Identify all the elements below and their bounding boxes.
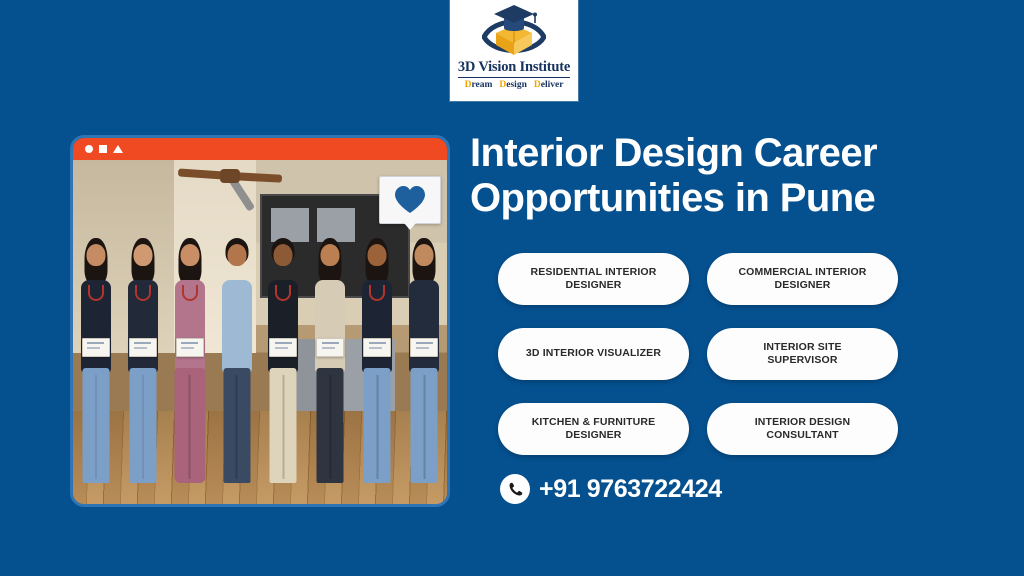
photo-people-row <box>73 222 447 497</box>
person <box>122 222 163 497</box>
career-pill-line-1: KITCHEN & FURNITURE <box>532 416 656 428</box>
heart-icon <box>394 185 426 215</box>
career-pill-line-1: INTERIOR DESIGN <box>755 416 851 428</box>
headline-line-2: Opportunities in Pune <box>470 176 875 220</box>
career-options-grid: RESIDENTIAL INTERIOR DESIGNER COMMERCIAL… <box>498 253 898 455</box>
person <box>357 222 398 497</box>
career-pill-kitchen-furniture-designer[interactable]: KITCHEN & FURNITURE DESIGNER <box>498 403 689 455</box>
career-pill-commercial-interior-designer[interactable]: COMMERCIAL INTERIOR DESIGNER <box>707 253 898 305</box>
tagline-word-1-rest: ream <box>471 80 492 90</box>
browser-title-bar <box>73 138 447 160</box>
career-pill-interior-site-supervisor[interactable]: INTERIOR SITE SUPERVISOR <box>707 328 898 380</box>
institute-logo-icon <box>482 3 546 59</box>
career-pill-3d-interior-visualizer[interactable]: 3D INTERIOR VISUALIZER <box>498 328 689 380</box>
phone-number: +91 9763722424 <box>539 475 722 504</box>
career-pill-interior-design-consultant[interactable]: INTERIOR DESIGN CONSULTANT <box>707 403 898 455</box>
phone-icon <box>507 481 524 498</box>
circle-control-icon[interactable] <box>85 145 93 153</box>
tagline-word-3-rest: eliver <box>541 80 564 90</box>
career-pill-line-1: COMMERCIAL INTERIOR <box>738 266 866 278</box>
brand-logo-panel: 3D Vision Institute Dream Design Deliver <box>450 0 578 101</box>
browser-window-mockup <box>70 135 450 507</box>
person <box>310 222 351 497</box>
tagline-word-2-rest: esign <box>506 80 527 90</box>
person <box>75 222 116 497</box>
person <box>169 222 210 497</box>
phone-icon-circle <box>500 474 530 504</box>
triangle-control-icon[interactable] <box>113 145 123 153</box>
tagline-word-3: Deliver <box>534 81 564 91</box>
heart-badge[interactable] <box>379 176 441 224</box>
tagline-word-1: Dream <box>465 81 493 91</box>
career-pill-line-2: SUPERVISOR <box>767 354 837 366</box>
ceiling-fan <box>175 163 285 193</box>
person <box>216 222 257 497</box>
contact-phone-row[interactable]: +91 9763722424 <box>500 474 722 504</box>
brand-name: 3D Vision Institute <box>458 60 570 75</box>
career-pill-residential-interior-designer[interactable]: RESIDENTIAL INTERIOR DESIGNER <box>498 253 689 305</box>
page-title: Interior Design Career Opportunities in … <box>470 131 970 221</box>
brand-divider <box>458 77 570 78</box>
square-control-icon[interactable] <box>99 145 107 153</box>
career-pill-line-2: CONSULTANT <box>766 429 838 441</box>
headline-line-1: Interior Design Career <box>470 131 877 175</box>
career-pill-line-1: 3D INTERIOR VISUALIZER <box>526 347 661 360</box>
career-pill-line-2: DESIGNER <box>565 429 621 441</box>
career-pill-line-2: DESIGNER <box>565 279 621 291</box>
tagline-word-2: Design <box>499 81 526 91</box>
brand-tagline: Dream Design Deliver <box>465 81 564 91</box>
browser-content-area <box>73 160 447 504</box>
person <box>263 222 304 497</box>
person <box>404 222 445 497</box>
career-pill-line-1: INTERIOR SITE <box>763 341 841 353</box>
poster-canvas: 3D Vision Institute Dream Design Deliver <box>0 0 1024 576</box>
career-pill-line-1: RESIDENTIAL INTERIOR <box>531 266 657 278</box>
career-pill-line-2: DESIGNER <box>774 279 830 291</box>
